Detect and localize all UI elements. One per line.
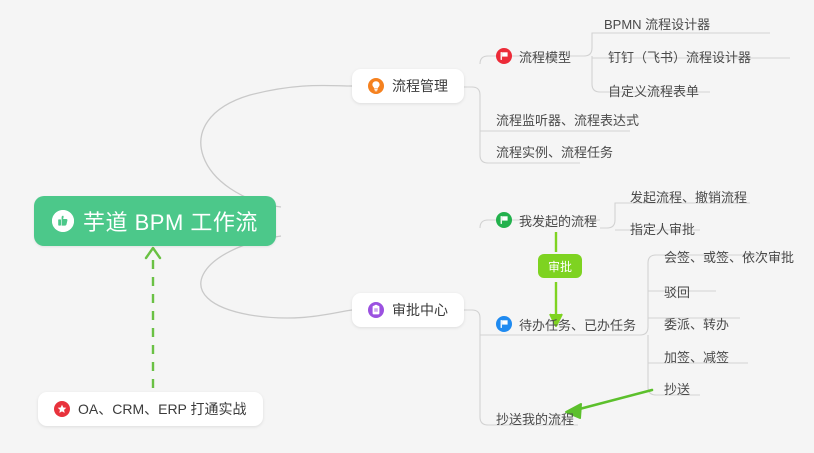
clipboard-icon xyxy=(368,302,384,318)
node-cc-to-me-process-label: 抄送我的流程 xyxy=(496,409,574,428)
node-reject[interactable]: 驳回 xyxy=(660,278,696,304)
node-my-started-process[interactable]: 我发起的流程 xyxy=(492,207,603,233)
node-custom-process-form-label: 自定义流程表单 xyxy=(608,81,699,100)
node-delegate-transfer[interactable]: 委派、转办 xyxy=(660,310,735,336)
node-counter-or-sequential-sign-label: 会签、或签、依次审批 xyxy=(664,247,794,266)
node-process-model-label: 流程模型 xyxy=(519,47,571,66)
approval-badge[interactable]: 审批 xyxy=(538,254,582,278)
node-cc[interactable]: 抄送 xyxy=(660,375,696,401)
node-assignee-approval[interactable]: 指定人审批 xyxy=(626,215,701,241)
bottom-card-integration[interactable]: OA、CRM、ERP 打通实战 xyxy=(38,392,263,426)
node-instance-task-label: 流程实例、流程任务 xyxy=(496,142,613,161)
link-root-to-process-management xyxy=(201,85,352,207)
node-instance-task[interactable]: 流程实例、流程任务 xyxy=(492,138,619,164)
node-process-model[interactable]: 流程模型 xyxy=(492,43,577,69)
thumbs-up-icon xyxy=(52,210,74,232)
node-my-started-process-label: 我发起的流程 xyxy=(519,211,597,230)
root-label: 芋道 BPM 工作流 xyxy=(83,205,258,237)
node-todo-done-task[interactable]: 待办任务、已办任务 xyxy=(492,311,642,337)
link-root-to-approval-center xyxy=(201,236,352,318)
cc-arrow-line xyxy=(568,390,652,412)
branch-process-management-label: 流程管理 xyxy=(392,76,448,96)
bottom-card-label: OA、CRM、ERP 打通实战 xyxy=(78,399,247,419)
node-start-cancel-process-label: 发起流程、撤销流程 xyxy=(630,187,747,206)
flag-icon xyxy=(496,316,512,332)
node-add-remove-sign-label: 加签、减签 xyxy=(664,347,729,366)
star-icon xyxy=(54,401,70,417)
node-cc-label: 抄送 xyxy=(664,379,690,398)
node-counter-or-sequential-sign[interactable]: 会签、或签、依次审批 xyxy=(660,243,800,269)
node-listener-expression-label: 流程监听器、流程表达式 xyxy=(496,110,639,129)
node-custom-process-form[interactable]: 自定义流程表单 xyxy=(604,77,705,103)
dashed-green-arrowhead xyxy=(146,248,160,258)
node-start-cancel-process[interactable]: 发起流程、撤销流程 xyxy=(626,183,753,209)
branch-approval-center-label: 审批中心 xyxy=(392,300,448,320)
node-dingtalk-feishu-designer-label: 钉钉（飞书）流程设计器 xyxy=(608,47,751,66)
node-todo-done-task-label: 待办任务、已办任务 xyxy=(519,315,636,334)
node-add-remove-sign[interactable]: 加签、减签 xyxy=(660,343,735,369)
node-delegate-transfer-label: 委派、转办 xyxy=(664,314,729,333)
node-bpmn-designer-label: BPMN 流程设计器 xyxy=(604,14,710,33)
root-node[interactable]: 芋道 BPM 工作流 xyxy=(34,196,276,246)
node-cc-to-me-process[interactable]: 抄送我的流程 xyxy=(492,405,580,431)
node-listener-expression[interactable]: 流程监听器、流程表达式 xyxy=(492,106,645,132)
node-dingtalk-feishu-designer[interactable]: 钉钉（飞书）流程设计器 xyxy=(604,43,757,69)
branch-process-management[interactable]: 流程管理 xyxy=(352,69,464,103)
node-bpmn-designer[interactable]: BPMN 流程设计器 xyxy=(600,10,716,36)
mindmap-canvas: 芋道 BPM 工作流 流程管理 流程模型 BPMN 流程设计器 钉钉（飞书）流程… xyxy=(0,0,814,453)
node-reject-label: 驳回 xyxy=(664,282,690,301)
lightbulb-icon xyxy=(368,78,384,94)
approval-badge-label: 审批 xyxy=(548,258,572,275)
flag-icon xyxy=(496,212,512,228)
node-assignee-approval-label: 指定人审批 xyxy=(630,219,695,238)
branch-approval-center[interactable]: 审批中心 xyxy=(352,293,464,327)
dashed-green-arrow-group xyxy=(146,248,160,388)
flag-icon xyxy=(496,48,512,64)
